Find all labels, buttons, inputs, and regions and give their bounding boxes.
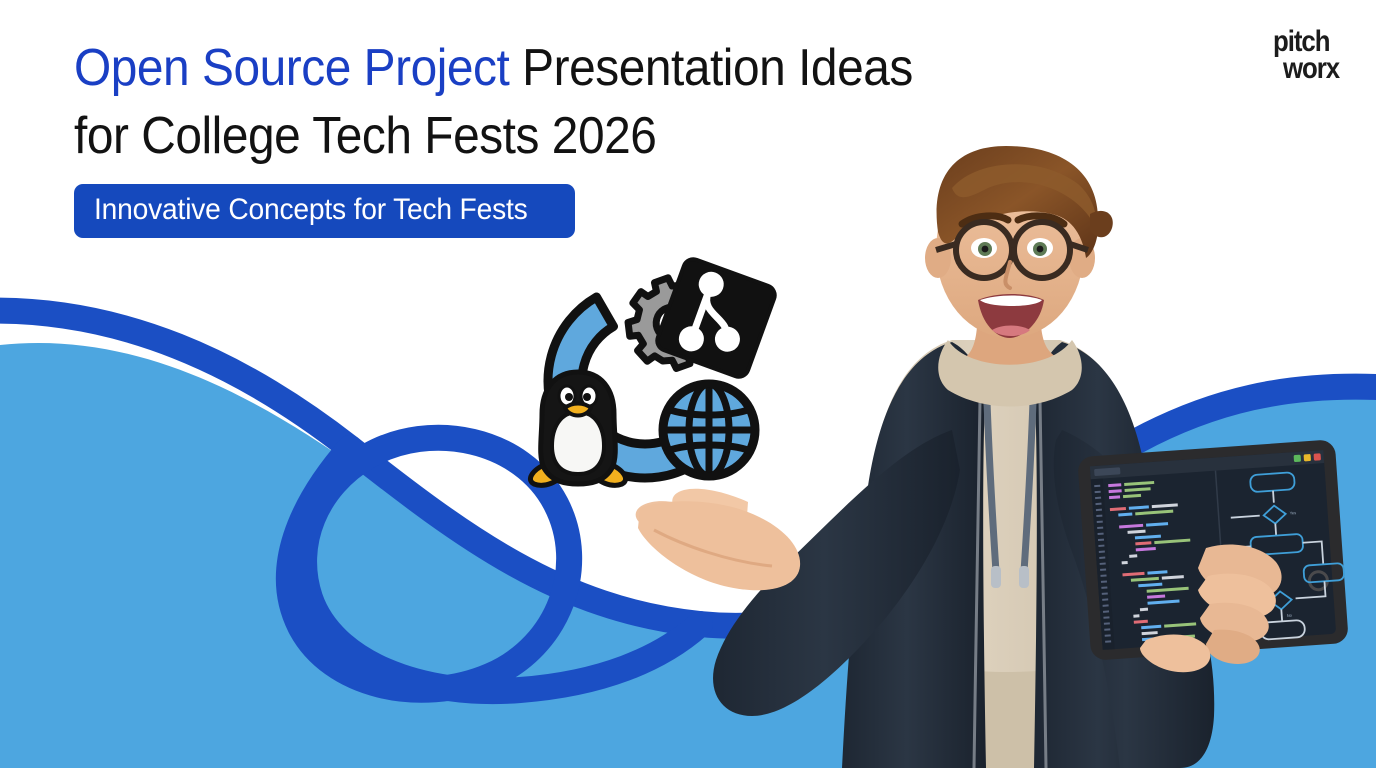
title-highlight: Open Source Project (74, 39, 509, 97)
subtitle-badge: Innovative Concepts for Tech Fests (74, 184, 575, 238)
title-rest: Presentation Ideas (509, 39, 912, 97)
tablet-device[interactable]: Yes No (1077, 439, 1349, 672)
subtitle-badge-label: Innovative Concepts for Tech Fests (94, 193, 528, 227)
open-palm-hand (636, 489, 800, 591)
poster-canvas: Open Source Project Presentation Ideas f… (0, 0, 1376, 768)
page-title: Open Source Project Presentation Ideas f… (74, 34, 930, 170)
brand-logo: pitch worx (1273, 28, 1348, 83)
svg-text:Yes: Yes (1289, 510, 1296, 515)
logo-line-2: worx (1283, 55, 1339, 83)
logo-line-1: pitch (1273, 28, 1338, 55)
title-line-2: for College Tech Fests 2026 (74, 102, 930, 170)
